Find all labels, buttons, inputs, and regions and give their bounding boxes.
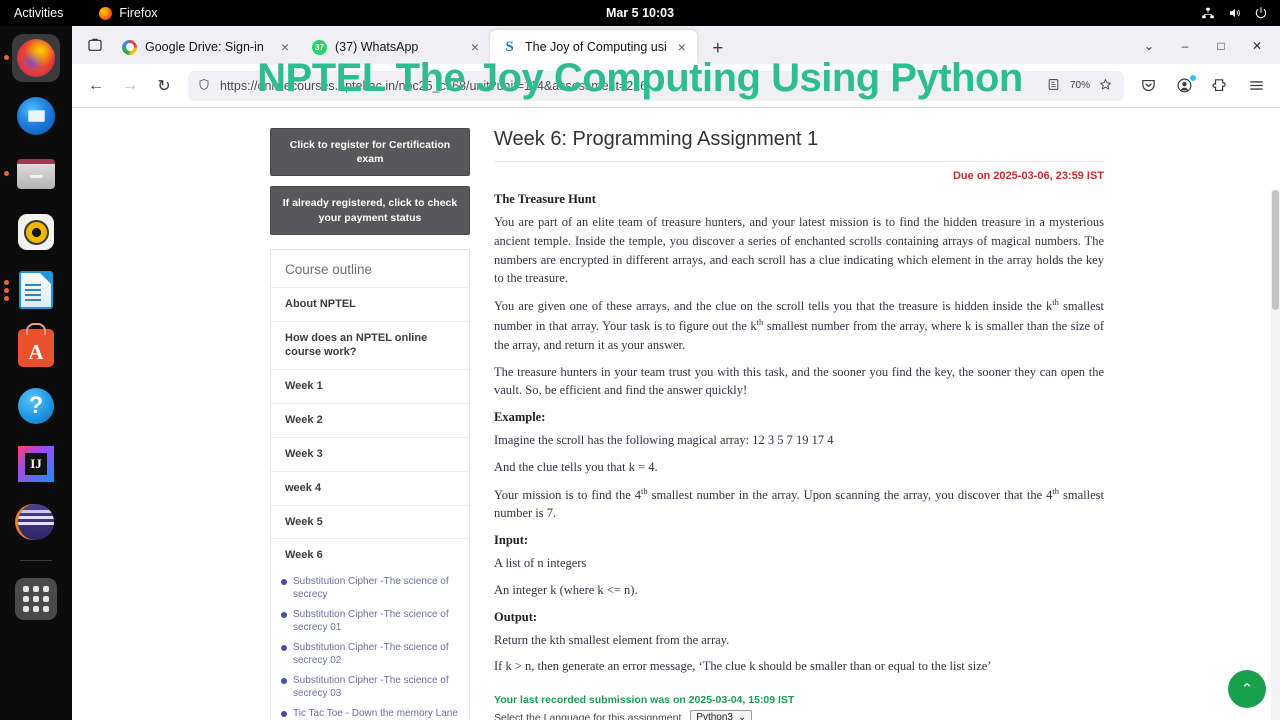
course-outline: Course outline About NPTEL How does an N… (270, 249, 470, 720)
input-label: Input: (494, 533, 1104, 548)
account-notification-dot (1190, 75, 1196, 81)
lesson-item[interactable]: Substitution Cipher -The science of secr… (271, 605, 469, 638)
running-indicator (4, 296, 9, 301)
new-tab-button[interactable]: + (705, 38, 731, 60)
zoom-level-indicator[interactable]: 70% (1070, 80, 1088, 91)
grid-icon (15, 578, 57, 620)
tab-title: Google Drive: Sign-in (145, 40, 270, 54)
sidebar-item-about-nptel[interactable]: About NPTEL (271, 287, 469, 321)
extensions-icon[interactable] (1204, 70, 1236, 102)
tab-title: (37) WhatsApp (335, 40, 460, 54)
sidebar-item-how-course-works[interactable]: How does an NPTEL online course work? (271, 321, 469, 370)
sidebar-item-week-4[interactable]: week 4 (271, 471, 469, 505)
output-line-2: If k > n, then generate an error message… (494, 657, 1104, 676)
language-select[interactable]: Python3 ⌄ (690, 710, 752, 720)
bookmark-star-icon[interactable] (1096, 78, 1114, 94)
tab-title: The Joy of Computing usi (525, 40, 667, 54)
register-certification-button[interactable]: Click to register for Certification exam (270, 128, 470, 176)
pocket-icon[interactable] (1132, 70, 1164, 102)
sidebar-item-week-5[interactable]: Week 5 (271, 505, 469, 539)
page-title: Week 6: Programming Assignment 1 (494, 128, 1104, 161)
sidebar-item-week-6[interactable]: Week 6 (271, 538, 469, 572)
due-date: Due on 2025-03-06, 23:59 IST (494, 161, 1104, 182)
dock-divider (20, 560, 52, 561)
submission-status: Your last recorded submission was on 202… (494, 694, 1104, 706)
maximize-button[interactable]: □ (1204, 31, 1238, 61)
close-window-button[interactable]: ✕ (1240, 31, 1274, 61)
example-line-2: And the clue tells you that k = 4. (494, 458, 1104, 477)
intellij-glyph: IJ (25, 453, 47, 475)
list-all-tabs-button[interactable]: ⌄ (1132, 31, 1166, 61)
swayam-icon: S (502, 40, 517, 55)
dock-item-help[interactable]: ? (12, 382, 60, 430)
system-top-bar: Activities Firefox Mar 5 10:03 (0, 0, 1280, 26)
ubuntu-software-icon (18, 329, 54, 367)
dock-item-intellij-idea[interactable]: IJ (12, 440, 60, 488)
dock-item-firefox[interactable] (12, 34, 60, 82)
assignment-paragraph-3: The treasure hunters in your team trust … (494, 363, 1104, 401)
toolbar-right (1132, 70, 1272, 102)
tab-joy-of-computing[interactable]: S The Joy of Computing usi × (490, 30, 697, 64)
assignment-main: Week 6: Programming Assignment 1 Due on … (470, 128, 1132, 720)
scrollbar-thumb[interactable] (1272, 190, 1279, 310)
tab-google-drive[interactable]: Google Drive: Sign-in × (110, 30, 300, 64)
para2-a: You are given one of these arrays, and t… (494, 299, 1052, 313)
system-tray[interactable] (1201, 6, 1268, 20)
firefox-view-button[interactable] (80, 30, 110, 60)
lesson-item[interactable]: Substitution Cipher -The science of secr… (271, 572, 469, 605)
forward-button[interactable]: → (114, 70, 146, 102)
example-line-3: Your mission is to find the 4th smallest… (494, 485, 1104, 524)
intellij-idea-icon: IJ (18, 446, 54, 482)
para2-sup1: th (1052, 297, 1059, 307)
tab-strip: Google Drive: Sign-in × 37 (37) WhatsApp… (72, 26, 1280, 64)
dock-item-files[interactable] (12, 150, 60, 198)
firefox-icon (17, 39, 55, 77)
help-icon: ? (18, 388, 54, 424)
active-app-indicator[interactable]: Firefox (99, 6, 157, 20)
tab-whatsapp[interactable]: 37 (37) WhatsApp × (300, 30, 490, 64)
output-label: Output: (494, 610, 1104, 625)
thunderbird-icon (17, 97, 55, 135)
sidebar-item-week-2[interactable]: Week 2 (271, 403, 469, 437)
libreoffice-icon (19, 271, 53, 309)
clock[interactable]: Mar 5 10:03 (0, 6, 1280, 20)
example-label: Example: (494, 410, 1104, 425)
folder-icon (17, 159, 55, 189)
language-value: Python3 (696, 712, 733, 720)
example3-sup1: th (641, 486, 648, 496)
reload-button[interactable]: ↻ (148, 70, 180, 102)
running-indicator (4, 280, 9, 285)
shield-icon[interactable] (198, 78, 212, 94)
reader-mode-icon[interactable] (1044, 78, 1062, 94)
sidebar-item-week-3[interactable]: Week 3 (271, 437, 469, 471)
account-icon[interactable] (1168, 70, 1200, 102)
lesson-item[interactable]: Substitution Cipher -The science of secr… (271, 638, 469, 671)
activities-button[interactable]: Activities (14, 6, 63, 20)
lesson-item[interactable]: Tic Tac Toe - Down the memory Lane (271, 704, 469, 720)
show-applications-button[interactable] (12, 575, 60, 623)
firefox-icon (99, 7, 112, 20)
lesson-item[interactable]: Substitution Cipher -The science of secr… (271, 671, 469, 704)
dock-item-anaconda[interactable] (12, 498, 60, 546)
output-line-1: Return the kth smallest element from the… (494, 631, 1104, 650)
dock: ? IJ (0, 26, 72, 720)
dock-item-rhythmbox[interactable] (12, 208, 60, 256)
chevron-down-icon: ⌄ (738, 712, 746, 720)
example3-b: smallest number in the array. Upon scann… (648, 488, 1053, 502)
close-icon[interactable]: × (278, 39, 292, 55)
assignment-paragraph-2: You are given one of these arrays, and t… (494, 296, 1104, 355)
page-scrollbar[interactable] (1271, 190, 1280, 720)
minimize-button[interactable]: – (1168, 31, 1202, 61)
volume-icon[interactable] (1227, 6, 1242, 20)
input-line-1: A list of n integers (494, 554, 1104, 573)
navigation-toolbar: ← → ↻ https://onlinecourses.nptel.ac.in/… (72, 64, 1280, 108)
running-indicator (4, 171, 9, 176)
network-icon[interactable] (1201, 6, 1215, 20)
url-text[interactable]: https://onlinecourses.nptel.ac.in/noc25_… (220, 79, 1036, 93)
payment-status-button[interactable]: If already registered, click to check yo… (270, 186, 470, 234)
active-app-label: Firefox (119, 6, 157, 20)
page-content: Click to register for Certification exam… (72, 108, 1280, 720)
anaconda-icon (18, 504, 54, 540)
close-icon[interactable]: × (675, 39, 689, 55)
language-selector-row: Select the Language for this assignment.… (494, 710, 1104, 720)
example3-a: Your mission is to find the 4 (494, 488, 641, 502)
close-icon[interactable]: × (468, 39, 482, 55)
language-label: Select the Language for this assignment. (494, 712, 684, 720)
dock-item-ubuntu-software[interactable] (12, 324, 60, 372)
running-indicator (4, 55, 9, 60)
input-line-2: An integer k (where k <= n). (494, 581, 1104, 600)
dock-item-thunderbird[interactable] (12, 92, 60, 140)
dock-item-libreoffice[interactable] (12, 266, 60, 314)
rhythmbox-icon (18, 214, 54, 250)
back-button[interactable]: ← (80, 70, 112, 102)
course-sidebar: Click to register for Certification exam… (270, 128, 470, 720)
power-icon[interactable] (1254, 6, 1268, 20)
app-menu-icon[interactable] (1240, 70, 1272, 102)
assignment-paragraph-1: You are part of an elite team of treasur… (494, 213, 1104, 288)
google-icon (122, 40, 137, 55)
running-indicator (4, 288, 9, 293)
window-controls: ⌄ – □ ✕ (1132, 31, 1274, 61)
firefox-window: Google Drive: Sign-in × 37 (37) WhatsApp… (72, 26, 1280, 720)
course-outline-title: Course outline (271, 250, 469, 287)
assignment-heading: The Treasure Hunt (494, 192, 1104, 207)
example-line-1: Imagine the scroll has the following mag… (494, 431, 1104, 450)
url-bar[interactable]: https://onlinecourses.nptel.ac.in/noc25_… (188, 71, 1124, 101)
whatsapp-icon: 37 (312, 40, 327, 55)
sidebar-item-week-1[interactable]: Week 1 (271, 369, 469, 403)
scroll-to-top-button[interactable]: ⌃ (1228, 670, 1266, 708)
